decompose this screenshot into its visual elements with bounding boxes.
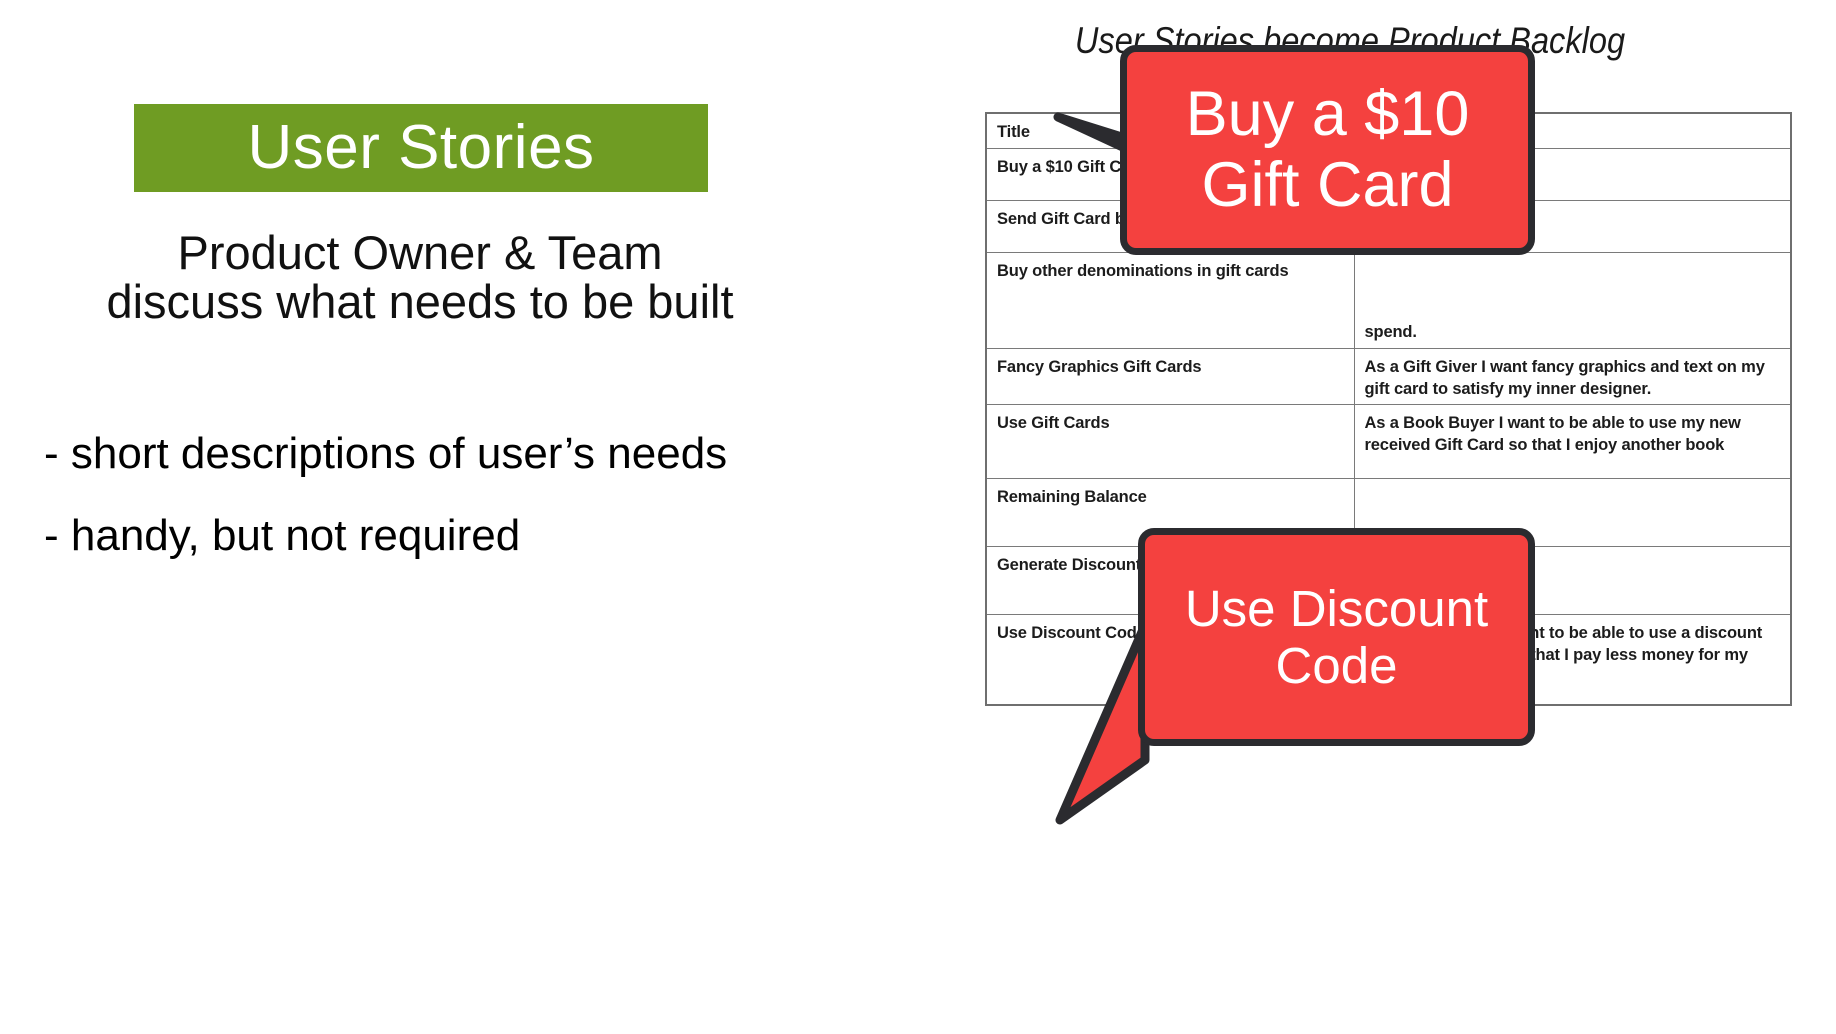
callout-bubble[interactable]: Use Discount Code bbox=[1138, 528, 1535, 746]
table-row: Use Gift Cards As a Book Buyer I want to… bbox=[986, 405, 1791, 479]
cell-title: Use Gift Cards bbox=[986, 405, 1354, 479]
right-content-panel: User Stories become Product Backlog Titl… bbox=[960, 0, 1836, 1034]
left-content-panel: User Stories Product Owner & Team discus… bbox=[0, 0, 960, 1034]
user-stories-banner-label: User Stories bbox=[247, 117, 594, 179]
cell-pbi: As a Book Buyer I want to be able to use… bbox=[1354, 405, 1791, 479]
subtitle-block: Product Owner & Team discuss what needs … bbox=[80, 228, 760, 327]
user-stories-banner: User Stories bbox=[134, 104, 708, 192]
table-row: Fancy Graphics Gift Cards As a Gift Give… bbox=[986, 348, 1791, 405]
cell-pbi: As a Gift Giver I want fancy graphics an… bbox=[1354, 348, 1791, 405]
subtitle-line-1: Product Owner & Team bbox=[80, 228, 760, 277]
subtitle-line-2: discuss what needs to be built bbox=[80, 277, 760, 326]
callout-buy-label: Buy a $10 Gift Card bbox=[1127, 79, 1528, 220]
bullet-item-2: - handy, but not required bbox=[44, 514, 924, 558]
callout-discount-label: Use Discount Code bbox=[1145, 580, 1528, 694]
cell-title: Fancy Graphics Gift Cards bbox=[986, 348, 1354, 405]
callout-bubble[interactable]: Buy a $10 Gift Card bbox=[1120, 45, 1535, 255]
bullet-item-1: - short descriptions of user’s needs bbox=[44, 432, 924, 476]
bullet-list: - short descriptions of user’s needs - h… bbox=[44, 432, 924, 596]
